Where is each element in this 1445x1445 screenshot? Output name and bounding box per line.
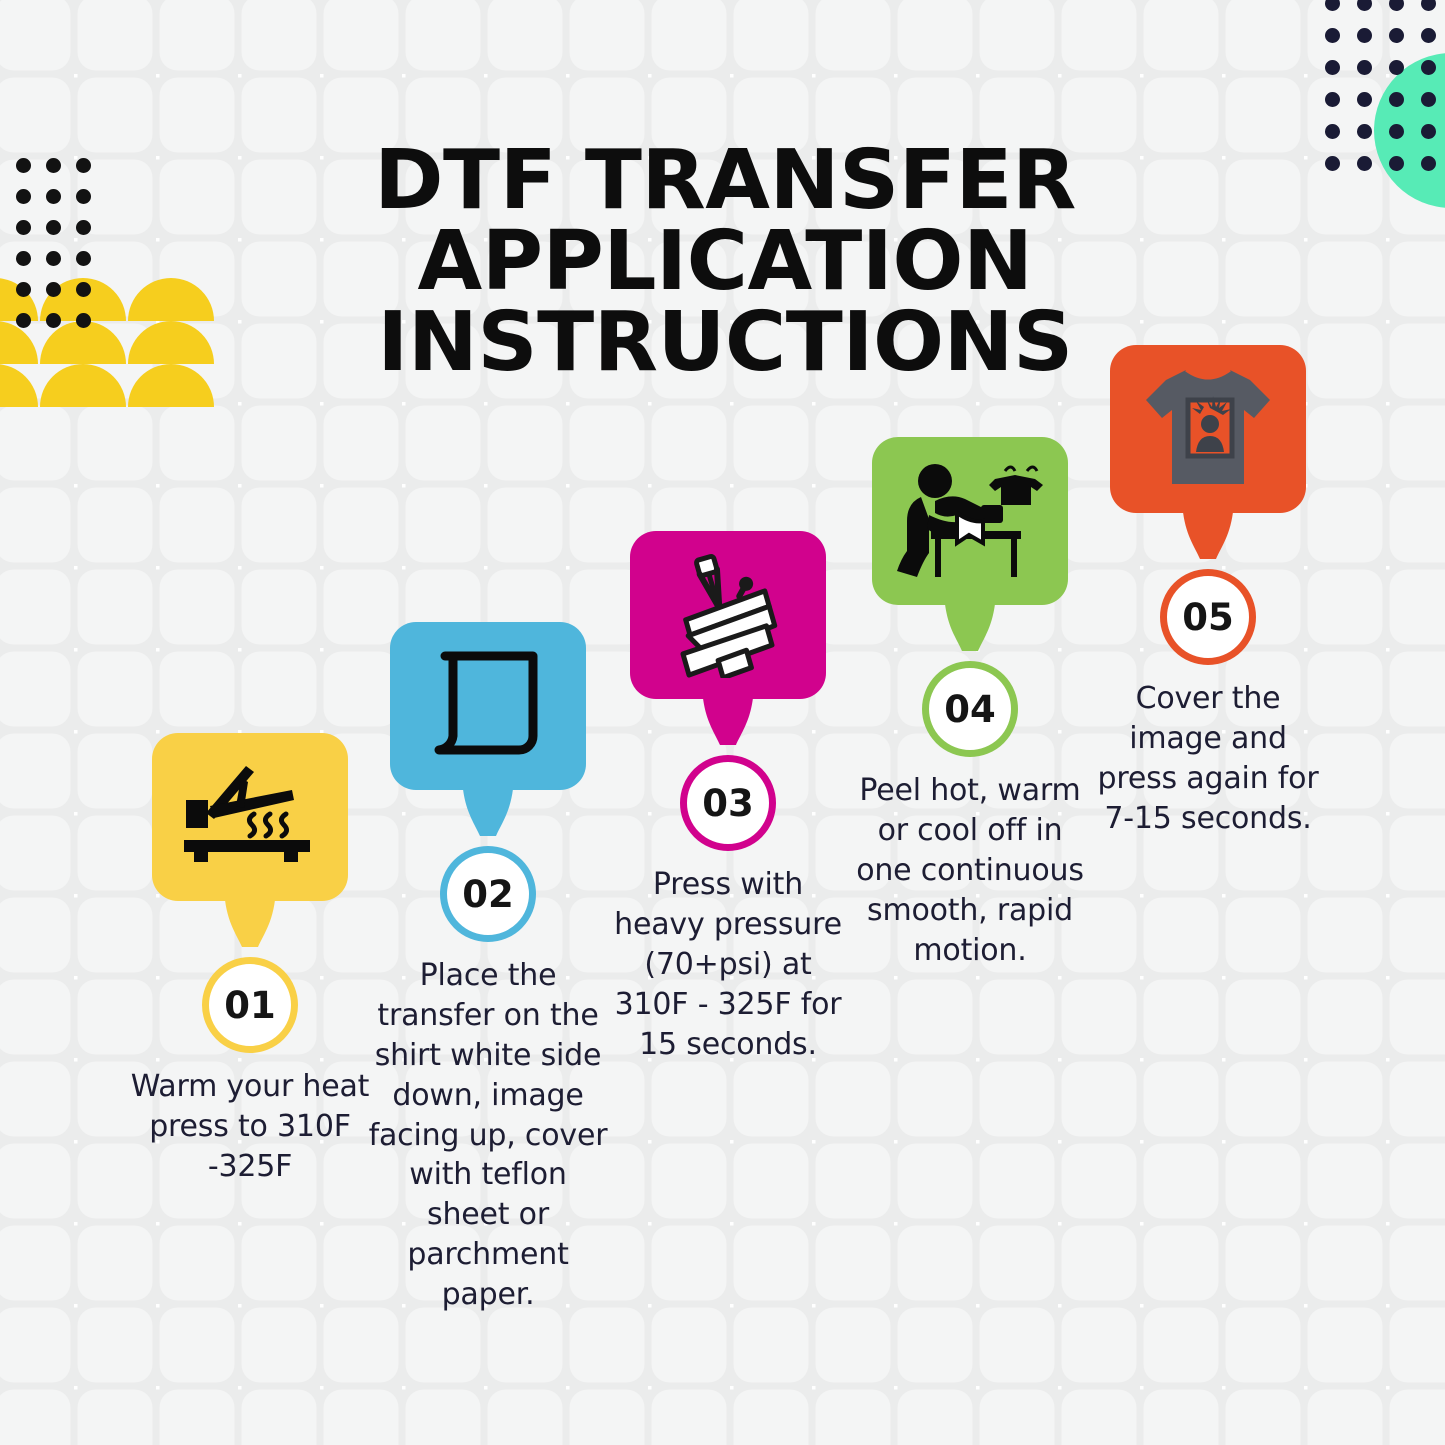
dot xyxy=(1389,0,1404,11)
dot xyxy=(1421,156,1436,171)
step-03: 03Press with heavy pressure (70+psi) at … xyxy=(608,531,848,1064)
printed-tshirt-icon xyxy=(1142,366,1274,492)
dot xyxy=(76,189,91,204)
dot xyxy=(16,282,31,297)
step-04: 04Peel hot, warm or cool off in one cont… xyxy=(850,437,1090,970)
dot xyxy=(1325,60,1340,75)
dot xyxy=(1389,60,1404,75)
step-marker: 02 xyxy=(368,622,608,942)
dot xyxy=(1421,28,1436,43)
dot xyxy=(1357,28,1372,43)
step-caption: Peel hot, warm or cool off in one contin… xyxy=(850,771,1090,970)
dot xyxy=(1357,124,1372,139)
step-card-02[interactable] xyxy=(390,622,586,790)
dot xyxy=(16,313,31,328)
dot xyxy=(1421,124,1436,139)
dot xyxy=(1389,92,1404,107)
dot xyxy=(46,282,61,297)
step-number-badge[interactable]: 02 xyxy=(440,846,536,942)
step-number-wrap: 05 xyxy=(1088,569,1328,665)
person-peeling-transfer-icon xyxy=(895,457,1045,585)
heat-press-open-icon xyxy=(184,762,316,872)
step-marker: 05 xyxy=(1088,345,1328,665)
dot xyxy=(46,189,61,204)
step-card-01[interactable] xyxy=(152,733,348,901)
step-card-05[interactable] xyxy=(1110,345,1306,513)
dot xyxy=(46,158,61,173)
step-number-wrap: 01 xyxy=(130,957,370,1053)
dot xyxy=(16,158,31,173)
dot xyxy=(76,251,91,266)
dot xyxy=(1421,60,1436,75)
dot xyxy=(1325,92,1340,107)
infographic-canvas: DTF TRANSFER APPLICATION INSTRUCTIONS 01… xyxy=(0,0,1445,1445)
dot xyxy=(1389,156,1404,171)
dot xyxy=(16,220,31,235)
step-number-label: 05 xyxy=(1182,596,1234,639)
dot xyxy=(76,282,91,297)
step-number-wrap: 04 xyxy=(850,661,1090,757)
step-02: 02Place the transfer on the shirt white … xyxy=(368,622,608,1315)
step-number-badge[interactable]: 03 xyxy=(680,755,776,851)
half-circle-shape xyxy=(0,278,38,321)
step-number-label: 01 xyxy=(224,984,276,1027)
step-01: 01Warm your heat press to 310F -325F xyxy=(130,733,370,1187)
dot xyxy=(16,251,31,266)
dot xyxy=(76,220,91,235)
navy-dot-grid xyxy=(1325,0,1445,188)
heat-press-machine-icon xyxy=(666,552,790,678)
dot xyxy=(1357,156,1372,171)
step-caption: Cover the image and press again for 7-15… xyxy=(1088,679,1328,839)
half-circle-shape xyxy=(0,364,38,407)
dot xyxy=(1325,28,1340,43)
step-number-label: 03 xyxy=(702,782,754,825)
step-number-badge[interactable]: 04 xyxy=(922,661,1018,757)
dot xyxy=(1357,0,1372,11)
step-number-label: 02 xyxy=(462,873,514,916)
dot xyxy=(46,220,61,235)
step-caption: Warm your heat press to 310F -325F xyxy=(130,1067,370,1187)
step-caption: Place the transfer on the shirt white si… xyxy=(368,956,608,1315)
dot xyxy=(16,189,31,204)
step-number-wrap: 02 xyxy=(368,846,608,942)
step-caption: Press with heavy pressure (70+psi) at 31… xyxy=(608,865,848,1064)
dot xyxy=(1357,92,1372,107)
step-card-03[interactable] xyxy=(630,531,826,699)
step-marker: 03 xyxy=(608,531,848,851)
dot xyxy=(1389,28,1404,43)
step-card-04[interactable] xyxy=(872,437,1068,605)
dot xyxy=(1325,124,1340,139)
dot xyxy=(46,251,61,266)
step-number-label: 04 xyxy=(944,688,996,731)
step-number-badge[interactable]: 01 xyxy=(202,957,298,1053)
dot xyxy=(76,313,91,328)
step-marker: 04 xyxy=(850,437,1090,757)
dot xyxy=(1389,124,1404,139)
step-number-wrap: 03 xyxy=(608,755,848,851)
step-number-badge[interactable]: 05 xyxy=(1160,569,1256,665)
dot xyxy=(1421,92,1436,107)
dot xyxy=(76,158,91,173)
dot xyxy=(1325,0,1340,11)
transfer-sheet-icon xyxy=(433,650,543,762)
step-05: 05Cover the image and press again for 7-… xyxy=(1088,345,1328,839)
teal-circle xyxy=(1374,53,1445,208)
dot xyxy=(1357,60,1372,75)
black-dot-grid xyxy=(16,158,106,344)
dot xyxy=(1421,0,1436,11)
step-marker: 01 xyxy=(130,733,370,1053)
half-circle-shape xyxy=(0,321,38,364)
dot xyxy=(46,313,61,328)
